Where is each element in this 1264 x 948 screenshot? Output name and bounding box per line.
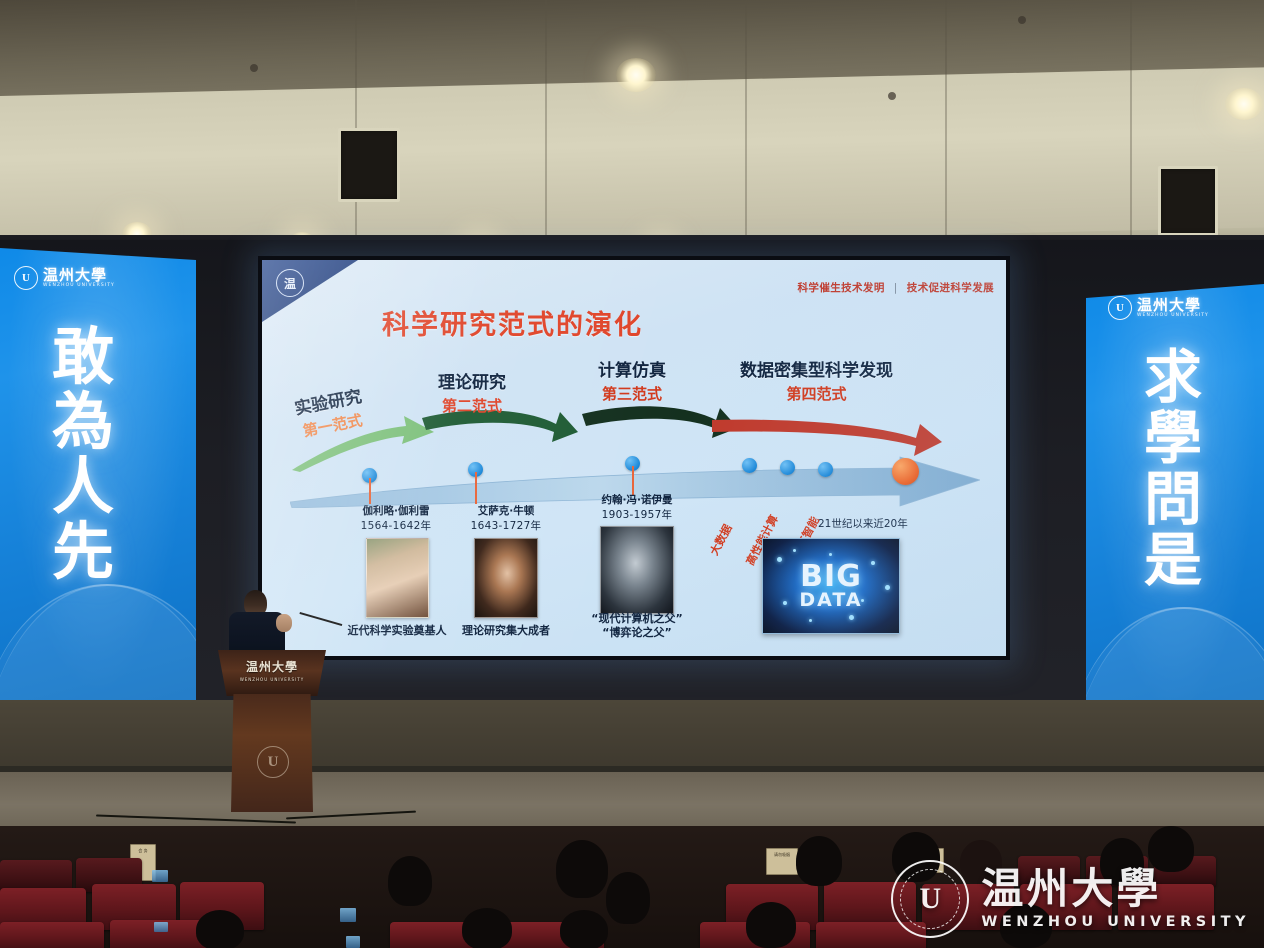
led-wall-left: U 温州大學 WENZHOU UNIVERSITY 敢 為 人 先 — [0, 248, 196, 718]
right-wall-logo-text: 温州大學 WENZHOU UNIVERSITY — [1137, 298, 1209, 318]
audience-head — [556, 840, 608, 898]
scientist-3-label: 约翰·冯·诺伊曼 1903-1957年 — [570, 492, 704, 522]
slide-university-seal-icon: 温 — [276, 269, 304, 297]
bigdata-image: BIG DATA — [762, 538, 900, 634]
scientist-1-label: 伽利略·伽利雷 1564-1642年 — [344, 503, 448, 533]
podium-name-en: WENZHOU UNIVERSITY — [218, 677, 326, 682]
scientist-dates: 1564-1642年 — [344, 518, 448, 533]
scientist-name: 伽利略·伽利雷 — [344, 503, 448, 518]
paradigm-ordinal: 第二范式 — [438, 395, 506, 416]
seat-tablet — [154, 922, 168, 932]
sprinkler-icon — [1018, 16, 1026, 24]
watermark-seal-glyph: U — [919, 882, 941, 916]
tech-driver-label: 大数据 — [706, 521, 736, 558]
scientist-3-caption: “现代计算机之父” “博弈论之父” — [578, 612, 696, 640]
ceiling-seam — [745, 0, 747, 252]
audience-head — [462, 908, 512, 948]
info-sign-card: 请勿吸烟 — [766, 848, 798, 875]
left-wall-logo: U 温州大學 WENZHOU UNIVERSITY — [14, 266, 115, 290]
lecture-hall-photo: U 温州大學 WENZHOU UNIVERSITY 敢 為 人 先 U 温州大學… — [0, 0, 1264, 948]
scientist-name: 艾萨克·牛顿 — [454, 503, 558, 518]
timeline-node-current — [892, 458, 919, 485]
portrait-newton — [474, 538, 538, 618]
right-wall-logo-en: WENZHOU UNIVERSITY — [1137, 314, 1209, 319]
scientist-2-label: 艾萨克·牛顿 1643-1727年 — [454, 503, 558, 533]
ceiling-band-light — [0, 67, 1264, 256]
era-note: 21世纪以来近20年 — [818, 516, 908, 531]
left-wall-logo-cn: 温州大學 — [43, 266, 107, 284]
audience-head — [388, 856, 432, 906]
paradigm-arrow-4 — [710, 412, 946, 460]
calligraphy-char: 為 — [52, 391, 114, 456]
speaker-hand — [276, 614, 292, 632]
timeline-node — [742, 458, 757, 473]
watermark-name-cn: 温州大學 — [981, 869, 1250, 911]
scientist-2-caption: 理论研究集大成者 — [440, 624, 572, 638]
paradigm-ordinal: 第三范式 — [598, 383, 666, 404]
scientist-3-caption-line2: “博弈论之父” — [578, 626, 696, 640]
seat — [0, 922, 104, 948]
calligraphy-char: 敢 — [52, 326, 114, 391]
portrait-von-neumann — [600, 526, 674, 614]
paradigm-ordinal: 第四范式 — [740, 383, 893, 404]
sprinkler-icon — [250, 64, 258, 72]
audience-head — [560, 910, 608, 948]
audience-head — [796, 836, 842, 886]
seat-tablet — [152, 870, 168, 882]
ceiling-seam — [355, 0, 357, 252]
timeline-node — [780, 460, 795, 475]
calligraphy-char: 問 — [1144, 470, 1202, 531]
timeline-stem — [369, 478, 371, 504]
paradigm-name: 数据密集型科学发现 — [740, 356, 893, 381]
slide-header-separator: | — [894, 282, 898, 294]
podium-seal-icon: U — [257, 746, 289, 778]
university-seal-icon: U — [1108, 296, 1132, 320]
seat-tablet — [340, 908, 356, 922]
timeline-node — [818, 462, 833, 477]
ceiling — [0, 0, 1264, 252]
slide-header-right: 技术促进科学发展 — [907, 282, 994, 294]
ceiling-seam — [1130, 0, 1132, 252]
ceiling-downlight — [616, 58, 656, 92]
timeline-stem — [475, 472, 477, 504]
ceiling-seam — [545, 0, 547, 252]
ceiling-vent — [338, 128, 400, 202]
calligraphy-char: 是 — [1144, 531, 1202, 592]
paradigm-name: 计算仿真 — [598, 356, 666, 381]
ceiling-vent — [1158, 166, 1218, 236]
paradigm-label-2: 理论研究 第二范式 — [438, 368, 506, 416]
sprinkler-icon — [888, 92, 896, 100]
calligraphy-char: 學 — [1144, 409, 1202, 470]
scientist-dates: 1643-1727年 — [454, 518, 558, 533]
scientist-name: 约翰·冯·诺伊曼 — [570, 492, 704, 507]
slide-title: 科学研究范式的演化 — [382, 303, 643, 342]
podium-name-cn: 温州大學 — [246, 660, 298, 674]
ceiling-seam — [945, 0, 947, 252]
scientist-dates: 1903-1957年 — [570, 507, 704, 522]
right-wall-logo: U 温州大學 WENZHOU UNIVERSITY — [1108, 296, 1209, 320]
led-wall-right: U 温州大學 WENZHOU UNIVERSITY 求 學 問 是 — [1086, 284, 1264, 736]
audience-head — [196, 910, 244, 948]
slide-header-left: 科学催生技术发明 — [798, 282, 885, 294]
podium: 温州大學 WENZHOU UNIVERSITY U — [218, 650, 326, 815]
slide-header: 科学催生技术发明 | 技术促进科学发展 — [798, 280, 994, 295]
seat-tablet — [346, 936, 360, 948]
right-wall-calligraphy: 求 學 問 是 — [1144, 348, 1202, 592]
watermark-name-en: WENZHOU UNIVERSITY — [981, 914, 1250, 930]
ceiling-downlight — [1225, 88, 1263, 120]
watermark-text: 温州大學 WENZHOU UNIVERSITY — [981, 869, 1250, 930]
paradigm-name: 理论研究 — [438, 368, 506, 393]
slide-corner-banner — [262, 260, 358, 322]
bigdata-network-dots — [763, 539, 899, 633]
audience-head — [606, 872, 650, 924]
calligraphy-char: 人 — [52, 456, 114, 521]
calligraphy-char: 先 — [52, 521, 114, 586]
left-wall-logo-en: WENZHOU UNIVERSITY — [43, 284, 115, 289]
watermark-seal-icon: U — [891, 860, 969, 938]
scientist-3-caption-line1: “现代计算机之父” — [578, 612, 696, 626]
university-seal-icon: U — [14, 266, 38, 290]
right-wall-logo-cn: 温州大學 — [1137, 296, 1201, 314]
paradigm-label-3: 计算仿真 第三范式 — [598, 356, 666, 404]
calligraphy-char: 求 — [1144, 348, 1202, 409]
audience-head — [746, 902, 796, 948]
left-wall-calligraphy: 敢 為 人 先 — [52, 326, 114, 586]
podium-nameplate: 温州大學 WENZHOU UNIVERSITY — [218, 658, 326, 682]
portrait-galileo — [366, 538, 429, 618]
presentation-slide: 温 科学催生技术发明 | 技术促进科学发展 科学研究范式的演化 — [262, 260, 1006, 656]
left-wall-logo-text: 温州大學 WENZHOU UNIVERSITY — [43, 268, 115, 288]
university-watermark: U 温州大學 WENZHOU UNIVERSITY — [891, 860, 1250, 938]
paradigm-label-4: 数据密集型科学发现 第四范式 — [740, 356, 893, 404]
